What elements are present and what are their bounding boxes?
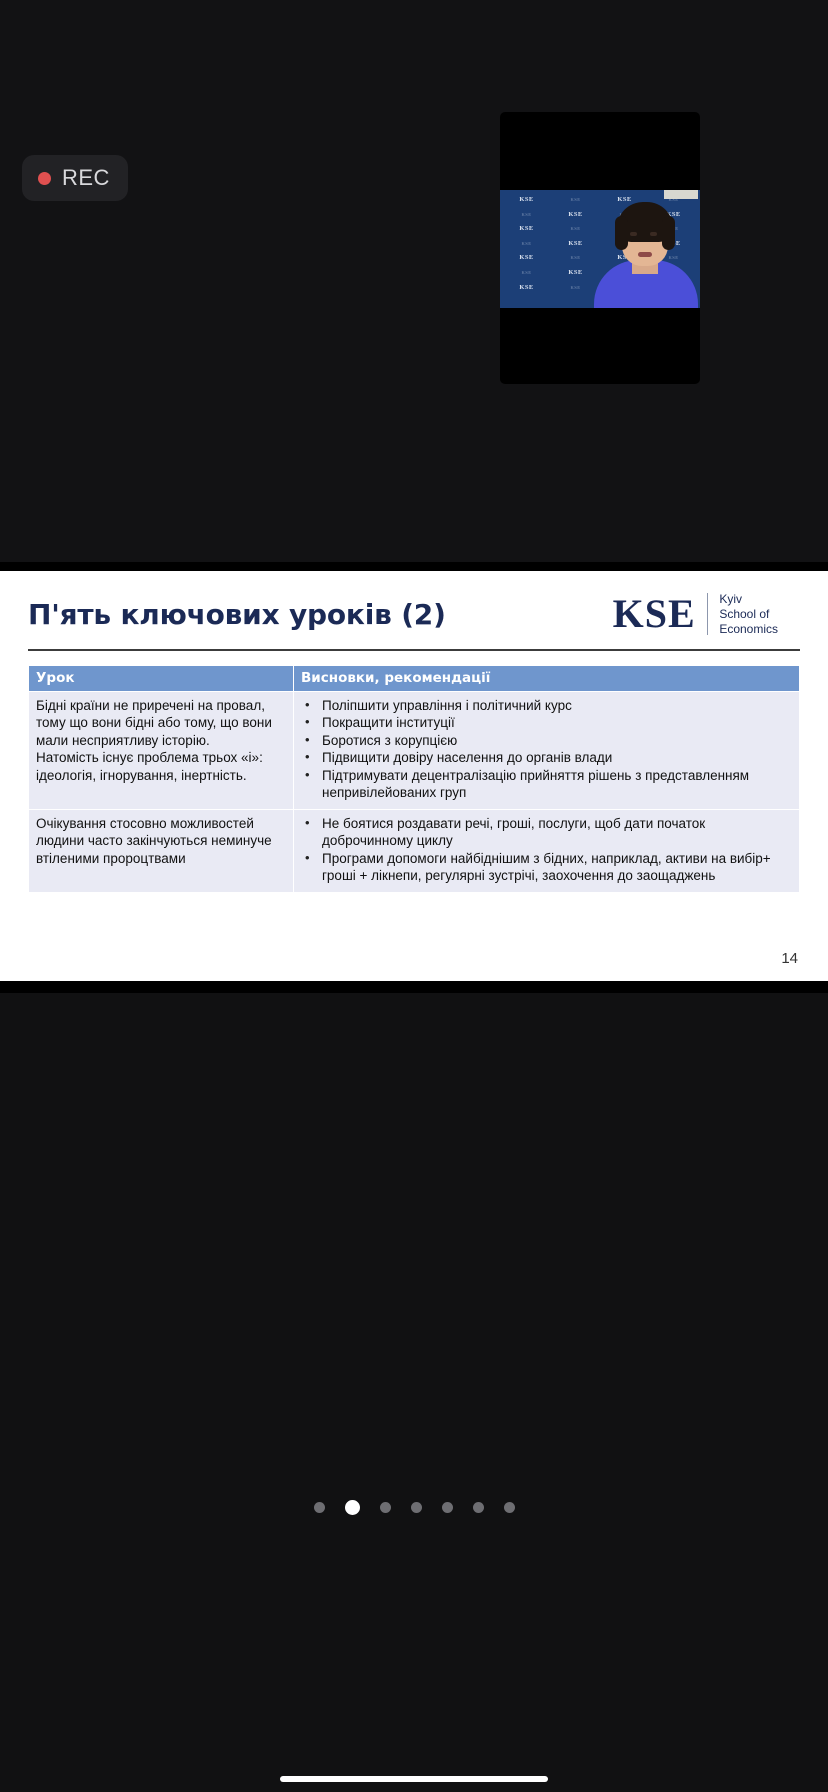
- recommendation-item: Покращити інституції: [301, 714, 792, 732]
- recommendation-item: Поліпшити управління і політичний курс: [301, 697, 792, 715]
- recommendation-item: Боротися з корупцією: [301, 732, 792, 750]
- recommendation-item: Підвищити довіру населення до органів вл…: [301, 749, 792, 767]
- pagination-dots[interactable]: [0, 1500, 828, 1515]
- column-header-lesson: Урок: [29, 665, 294, 691]
- column-header-recommendations: Висновки, рекомендації: [294, 665, 800, 691]
- recommendation-item: Підтримувати децентралізацію прийняття р…: [301, 767, 792, 802]
- kse-logo: KSE Kyiv School of Economics: [613, 592, 800, 637]
- video-stage: REC KSE KSE KSE KSE KSE KSE KSE KSE KSE …: [0, 0, 828, 562]
- backdrop-logo-item: KSE: [502, 266, 551, 281]
- table-header-row: Урок Висновки, рекомендації: [29, 665, 800, 691]
- lesson-cell: Бідні країни не приречені на провал, том…: [29, 691, 294, 809]
- kse-logo-line-2: School of: [719, 607, 769, 621]
- table-row: Бідні країни не приречені на провал, том…: [29, 691, 800, 809]
- kse-logo-line-3: Economics: [719, 622, 778, 636]
- pagination-dot[interactable]: [473, 1502, 484, 1513]
- slide-top-divider: [0, 562, 828, 571]
- pagination-dot[interactable]: [411, 1502, 422, 1513]
- recording-label: REC: [62, 165, 110, 191]
- slide-header: П'ять ключових уроків (2) KSE Kyiv Schoo…: [28, 571, 800, 643]
- kse-wordmark: KSE: [613, 594, 696, 634]
- presentation-slide[interactable]: П'ять ключових уроків (2) KSE Kyiv Schoo…: [0, 571, 828, 981]
- backdrop-logo-item: KSE: [502, 193, 551, 208]
- participant-eye-left: [630, 232, 637, 236]
- participant-hair-right: [662, 216, 675, 250]
- recording-badge: REC: [22, 155, 128, 201]
- lesson-cell: Очікування стосовно можливостей людини ч…: [29, 809, 294, 892]
- recommendation-item: Програми допомоги найбіднішим з бідних, …: [301, 850, 792, 885]
- slide-page-number: 14: [781, 950, 798, 967]
- kse-logo-subtitle: Kyiv School of Economics: [719, 592, 778, 637]
- bottom-dark-area: [0, 993, 828, 1792]
- recommendations-list: Поліпшити управління і політичний курсПо…: [301, 697, 792, 802]
- pagination-dot-active[interactable]: [345, 1500, 360, 1515]
- backdrop-logo-item: KSE: [502, 222, 551, 237]
- recommendations-cell: Поліпшити управління і політичний курсПо…: [294, 691, 800, 809]
- kse-logo-divider: [707, 593, 709, 635]
- backdrop-logo-item: KSE: [502, 281, 551, 296]
- backdrop-logo-item: KSE: [502, 251, 551, 266]
- slide-title: П'ять ключових уроків (2): [28, 598, 446, 631]
- slide-header-rule: [28, 649, 800, 651]
- lessons-table: Урок Висновки, рекомендації Бідні країни…: [28, 665, 800, 893]
- phone-screen: REC KSE KSE KSE KSE KSE KSE KSE KSE KSE …: [0, 0, 828, 1792]
- recommendations-list: Не боятися роздавати речі, гроші, послуг…: [301, 815, 792, 885]
- slide-bottom-divider: [0, 981, 828, 993]
- backdrop-logo-item: KSE: [502, 208, 551, 223]
- self-view-frame: KSE KSE KSE KSE KSE KSE KSE KSE KSE KSE …: [500, 190, 700, 308]
- pagination-dot[interactable]: [380, 1502, 391, 1513]
- participant-eye-right: [650, 232, 657, 236]
- self-view-video-tile[interactable]: KSE KSE KSE KSE KSE KSE KSE KSE KSE KSE …: [500, 112, 700, 384]
- table-row: Очікування стосовно можливостей людини ч…: [29, 809, 800, 892]
- participant-hair-left: [615, 216, 628, 250]
- backdrop-logo-item: KSE: [502, 237, 551, 252]
- kse-logo-line-1: Kyiv: [719, 592, 742, 606]
- pagination-dot[interactable]: [504, 1502, 515, 1513]
- recommendation-item: Не боятися роздавати речі, гроші, послуг…: [301, 815, 792, 850]
- record-dot-icon: [38, 172, 51, 185]
- ceiling-light: [664, 190, 698, 199]
- pagination-dot[interactable]: [314, 1502, 325, 1513]
- recommendations-cell: Не боятися роздавати речі, гроші, послуг…: [294, 809, 800, 892]
- home-indicator[interactable]: [280, 1776, 548, 1782]
- participant-mouth: [638, 252, 652, 257]
- pagination-dot[interactable]: [442, 1502, 453, 1513]
- participant-figure: [588, 190, 700, 308]
